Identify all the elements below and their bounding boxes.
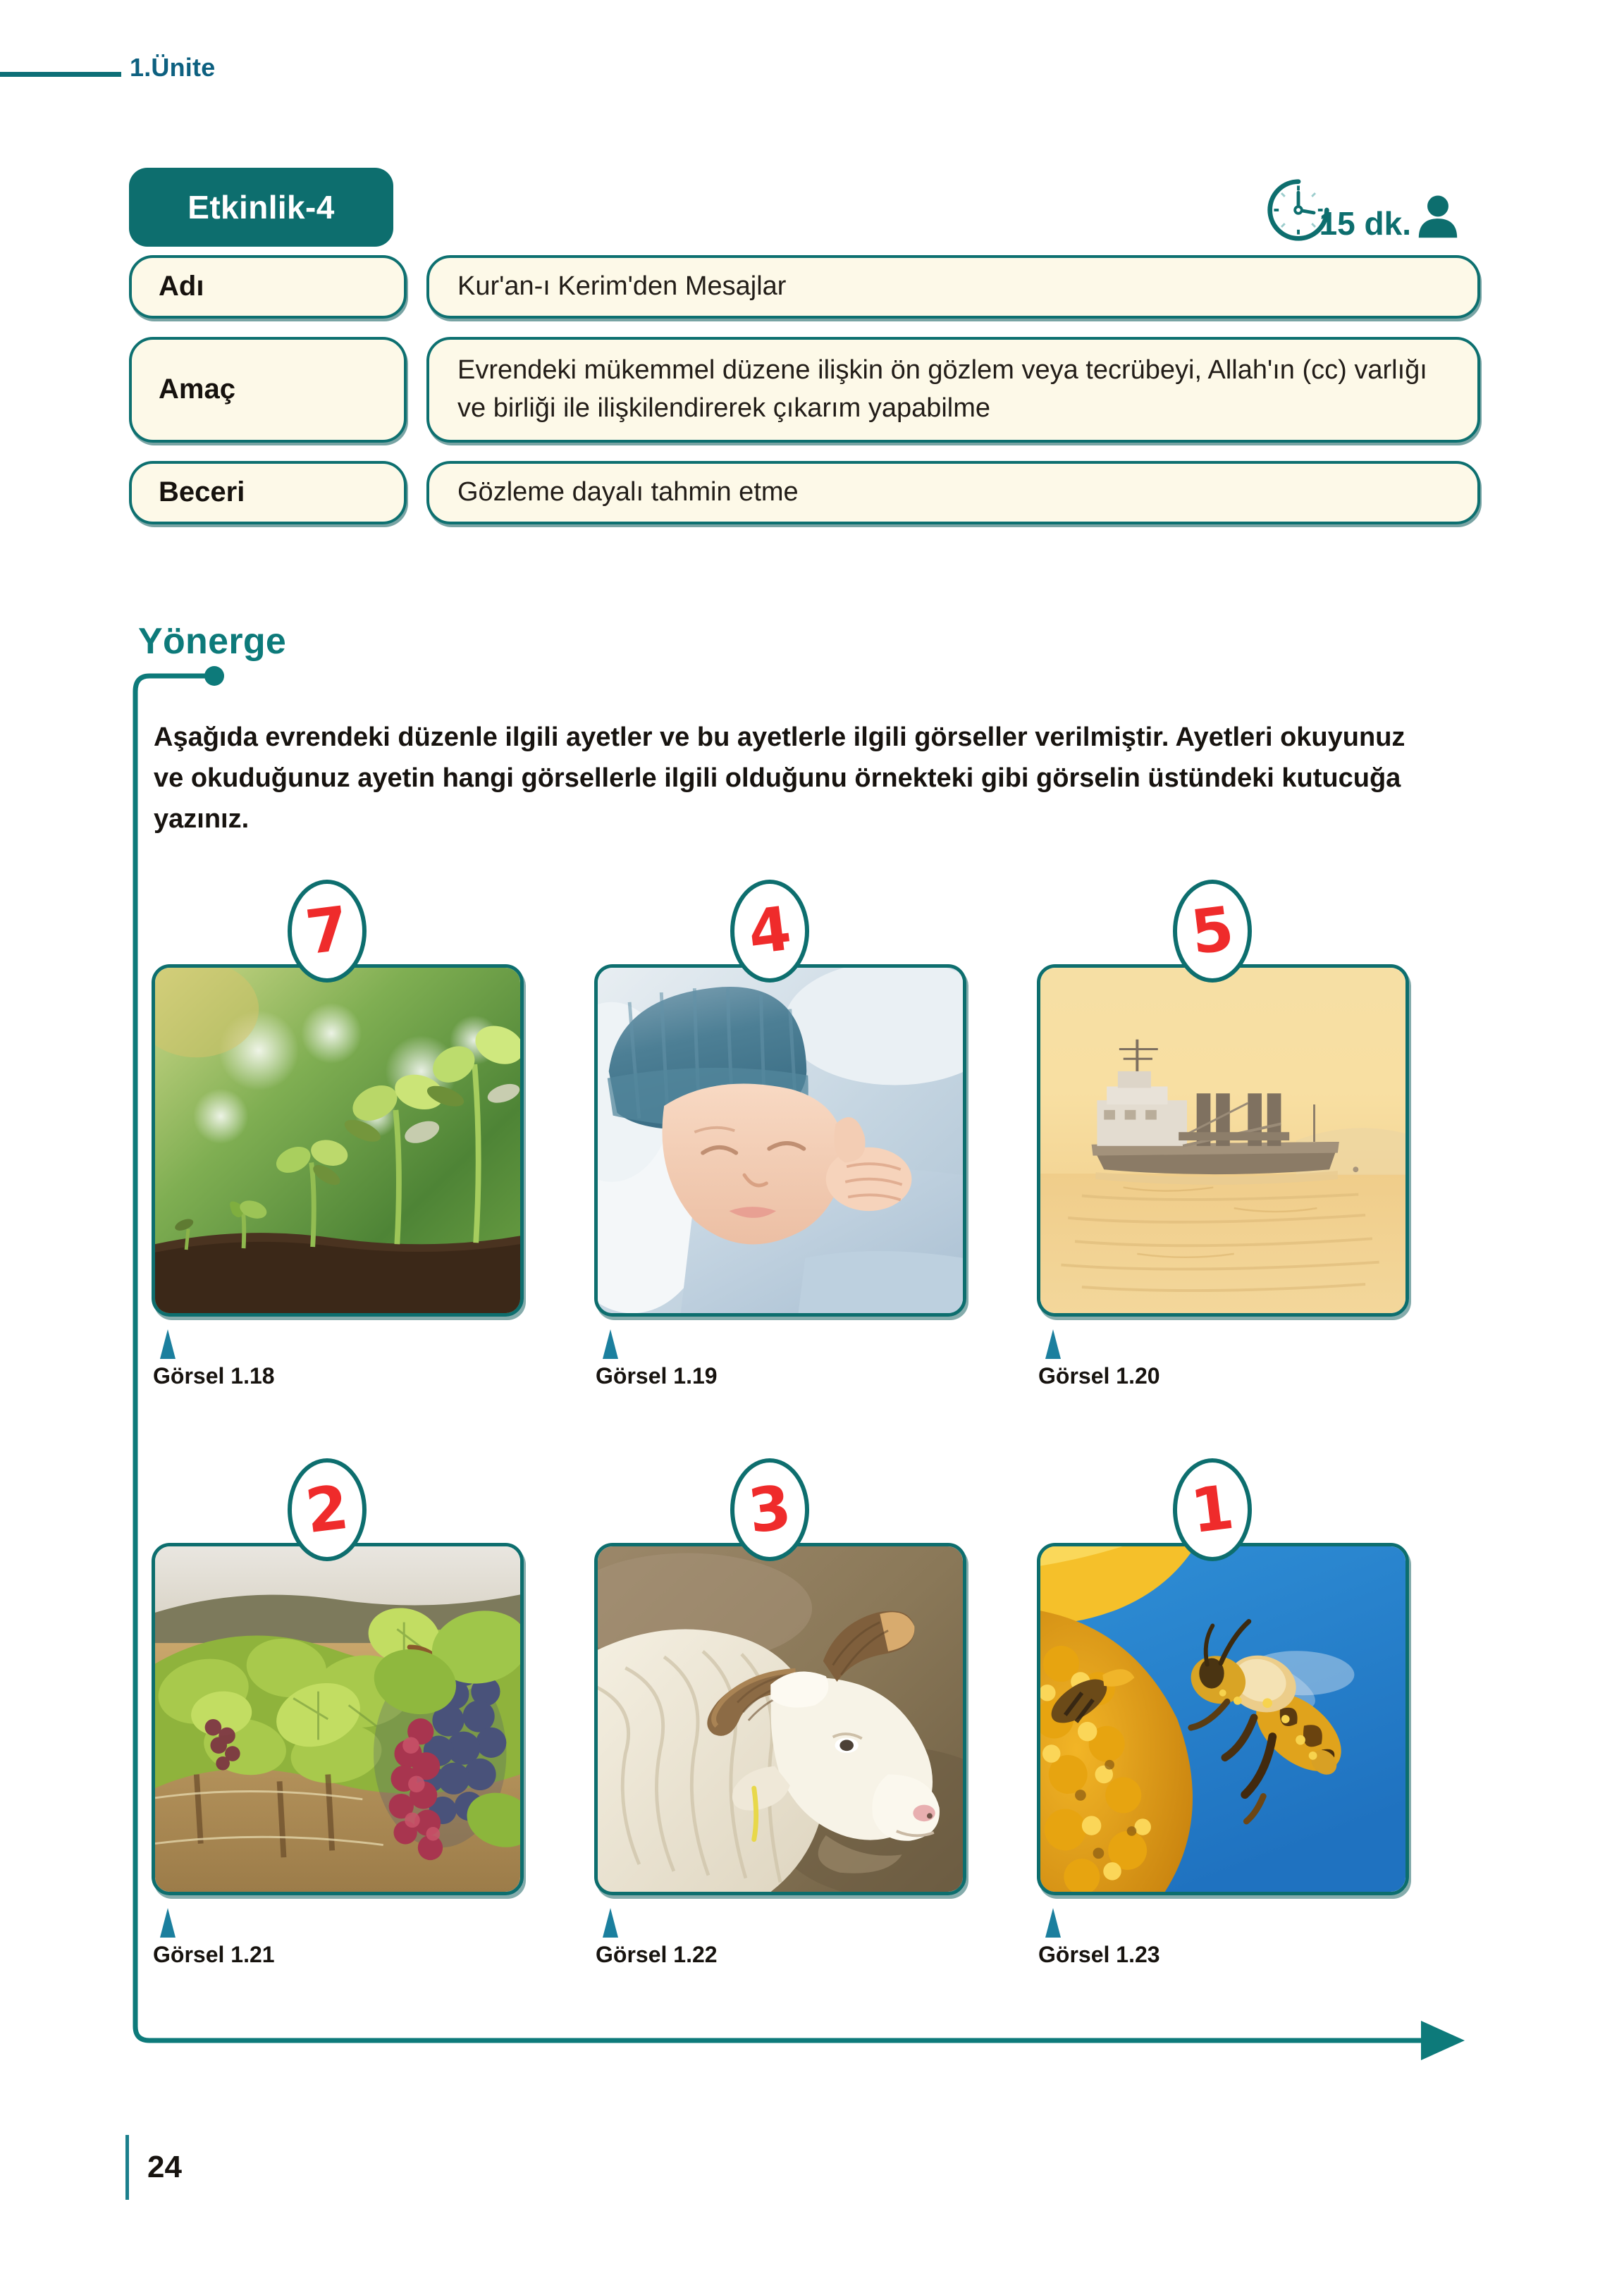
unit-header-rule — [0, 72, 121, 77]
info-value-text: Evrendeki mükemmel düzene ilişkin ön göz… — [457, 352, 1449, 428]
caption-triangle-icon — [157, 1329, 178, 1359]
activity-badge-label: Etkinlik-4 — [187, 188, 335, 226]
caption-triangle-icon — [600, 1329, 621, 1359]
photo-grape-vineyard — [152, 1543, 524, 1895]
info-row-amac: Amaç Evrendeki mükemmel düzene ilişkin ö… — [129, 337, 1480, 443]
info-row-adi: Adı Kur'an-ı Kerim'den Mesajlar — [129, 255, 1480, 319]
gallery-cell: 5 — [1037, 881, 1409, 1389]
yonerge-heading: Yönerge — [138, 620, 286, 663]
photo-caption: Görsel 1.23 — [1037, 1908, 1409, 1968]
caption-triangle-icon — [600, 1908, 621, 1938]
info-label-text: Beceri — [159, 476, 245, 508]
answer-badge-ellipse[interactable] — [285, 879, 369, 983]
page-footer: 24 — [125, 2135, 182, 2200]
answer-badge-ellipse[interactable] — [285, 1458, 369, 1562]
page-number: 24 — [129, 2150, 182, 2185]
caption-label: Görsel 1.22 — [596, 1942, 966, 1968]
info-label-beceri: Beceri — [129, 461, 407, 524]
activity-info-table: Adı Kur'an-ı Kerim'den Mesajlar Amaç Evr… — [129, 255, 1480, 543]
photo-caption: Görsel 1.19 — [594, 1329, 966, 1389]
image-grid-row: 2 — [152, 1460, 1441, 1968]
gallery-cell: 4 — [594, 881, 966, 1389]
answer-badge-ellipse[interactable] — [1171, 1458, 1254, 1562]
photo-cargo-ship — [1037, 964, 1409, 1317]
photo-caption: Görsel 1.21 — [152, 1908, 524, 1968]
gallery-cell: 1 — [1037, 1460, 1409, 1968]
workbook-page: 1.Ünite Etkinlik-4 15 dk. — [0, 0, 1624, 2290]
info-value-text: Gözleme dayalı tahmin etme — [457, 474, 799, 512]
instructions-text: Aşağıda evrendeki düzenle ilgili ayetler… — [154, 718, 1422, 839]
gallery-cell: 2 — [152, 1460, 524, 1968]
caption-triangle-icon — [1042, 1908, 1064, 1938]
photo-white-ram — [594, 1543, 966, 1895]
info-value-amac: Evrendeki mükemmel düzene ilişkin ön göz… — [426, 337, 1480, 443]
photo-sleeping-baby — [594, 964, 966, 1317]
duration-label: 15 dk. — [1319, 207, 1411, 244]
caption-triangle-icon — [157, 1908, 178, 1938]
answer-badge-ellipse[interactable] — [728, 879, 811, 983]
answer-badge-ellipse[interactable] — [1171, 879, 1254, 983]
info-value-beceri: Gözleme dayalı tahmin etme — [426, 461, 1480, 524]
unit-header: 1.Ünite — [0, 55, 215, 86]
activity-badge: Etkinlik-4 — [129, 168, 393, 247]
person-icon — [1414, 192, 1462, 240]
photo-caption: Görsel 1.18 — [152, 1329, 524, 1389]
gallery-cell: 3 — [594, 1460, 966, 1968]
photo-seedlings — [152, 964, 524, 1317]
info-value-text: Kur'an-ı Kerim'den Mesajlar — [457, 268, 786, 306]
caption-label: Görsel 1.23 — [1038, 1942, 1409, 1968]
caption-triangle-icon — [1042, 1329, 1064, 1359]
gallery-cell: 7 — [152, 881, 524, 1389]
answer-badge-ellipse[interactable] — [728, 1458, 811, 1562]
info-label-text: Amaç — [159, 374, 235, 405]
info-label-text: Adı — [159, 271, 204, 302]
image-grid: 7 — [152, 881, 1441, 2038]
photo-caption: Görsel 1.20 — [1037, 1329, 1409, 1389]
caption-label: Görsel 1.18 — [153, 1363, 524, 1389]
caption-label: Görsel 1.20 — [1038, 1363, 1409, 1389]
image-grid-row: 7 — [152, 881, 1441, 1389]
activity-timing: 15 dk. — [1265, 176, 1462, 244]
info-row-beceri: Beceri Gözleme dayalı tahmin etme — [129, 461, 1480, 524]
caption-label: Görsel 1.21 — [153, 1942, 524, 1968]
info-label-amac: Amaç — [129, 337, 407, 443]
caption-label: Görsel 1.19 — [596, 1363, 966, 1389]
yonerge-instructions: Aşağıda evrendeki düzenle ilgili ayetler… — [154, 718, 1422, 839]
photo-caption: Görsel 1.22 — [594, 1908, 966, 1968]
photo-honeybee-sunflower — [1037, 1543, 1409, 1895]
info-label-adi: Adı — [129, 255, 407, 319]
unit-label: 1.Ünite — [121, 55, 215, 86]
info-value-adi: Kur'an-ı Kerim'den Mesajlar — [426, 255, 1480, 319]
